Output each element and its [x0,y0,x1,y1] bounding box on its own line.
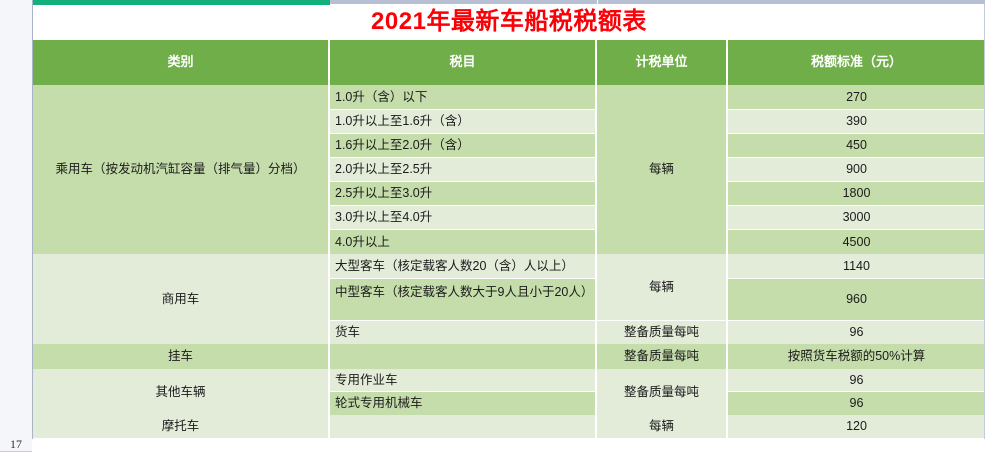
taxitem-cell [330,415,597,438]
taxunit-cell: 整备质量每吨 [597,369,728,415]
taxamount-cell: 270 [728,85,985,110]
taxitem-cell: 大型客车（核定载客人数20（含）人以上） [330,254,597,279]
column-header-taxamount: 税额标准（元） [728,40,985,85]
taxitem-cell: 2.0升以上至2.5升 [330,158,597,182]
taxitem-cell: 货车 [330,321,597,344]
taxitem-cell: 2.5升以上至3.0升 [330,182,597,206]
taxamount-cell: 4500 [728,230,985,254]
category-cell-commercial-vehicle: 商用车 [33,254,330,344]
taxunit-cell: 整备质量每吨 [597,344,728,369]
taxamount-cell: 1140 [728,254,985,279]
taxamount-cell: 96 [728,321,985,344]
column-separator [726,40,728,85]
category-cell-passenger-vehicle: 乘用车（按发动机汽缸容量（排气量）分档） [33,85,330,254]
taxitem-cell: 1.0升（含）以下 [330,85,597,110]
column-separator [328,40,330,85]
taxitem-text: 中型客车（核定载客人数大于9人且小于20人） [330,279,595,301]
taxamount-cell: 390 [728,110,985,134]
taxamount-cell: 960 [728,279,985,321]
taxitem-cell: 1.6升以上至2.0升（含） [330,134,597,158]
taxamount-cell: 1800 [728,182,985,206]
spreadsheet-sheet: 1 2 3 4 5 6 7 8 9 10 11 12 13 14 15 16 1… [0,0,995,439]
column-separator [595,40,597,85]
row-header-17[interactable]: 17 [0,438,32,452]
column-header-taxunit: 计税单位 [597,40,728,85]
taxunit-cell: 每辆 [597,415,728,438]
sheet-right-edge [984,4,985,439]
taxitem-cell: 专用作业车 [330,369,597,392]
taxamount-cell: 450 [728,134,985,158]
row-number-gutter [0,0,33,439]
page-title: 2021年最新车船税税额表 [33,4,985,40]
taxamount-cell: 900 [728,158,985,182]
taxitem-cell: 4.0升以上 [330,230,597,254]
taxitem-cell [330,344,597,369]
table-grid: 2021年最新车船税税额表 类别 税目 计税单位 税额标准（元） 乘用车（按发动… [33,0,985,439]
top-accent-strip [33,0,330,5]
taxitem-cell: 3.0升以上至4.0升 [330,206,597,230]
taxitem-cell: 中型客车（核定载客人数大于9人且小于20人） [330,279,597,321]
taxunit-cell-per-vehicle: 每辆 [597,85,728,254]
column-header-category: 类别 [33,40,330,85]
taxitem-cell: 1.0升以上至1.6升（含） [330,110,597,134]
category-cell-other-vehicle: 其他车辆 [33,369,330,415]
taxamount-cell: 120 [728,415,985,438]
taxamount-cell: 3000 [728,206,985,230]
taxamount-cell: 按照货车税额的50%计算 [728,344,985,369]
taxamount-cell: 96 [728,392,985,415]
top-accent-strip-secondary [330,0,985,4]
taxamount-cell: 96 [728,369,985,392]
category-cell-motorcycle: 摩托车 [33,415,330,438]
taxunit-cell: 每辆 [597,254,728,321]
taxitem-cell: 轮式专用机械车 [330,392,597,415]
column-header-taxitem: 税目 [330,40,597,85]
category-cell-trailer: 挂车 [33,344,330,369]
taxunit-cell: 整备质量每吨 [597,321,728,344]
